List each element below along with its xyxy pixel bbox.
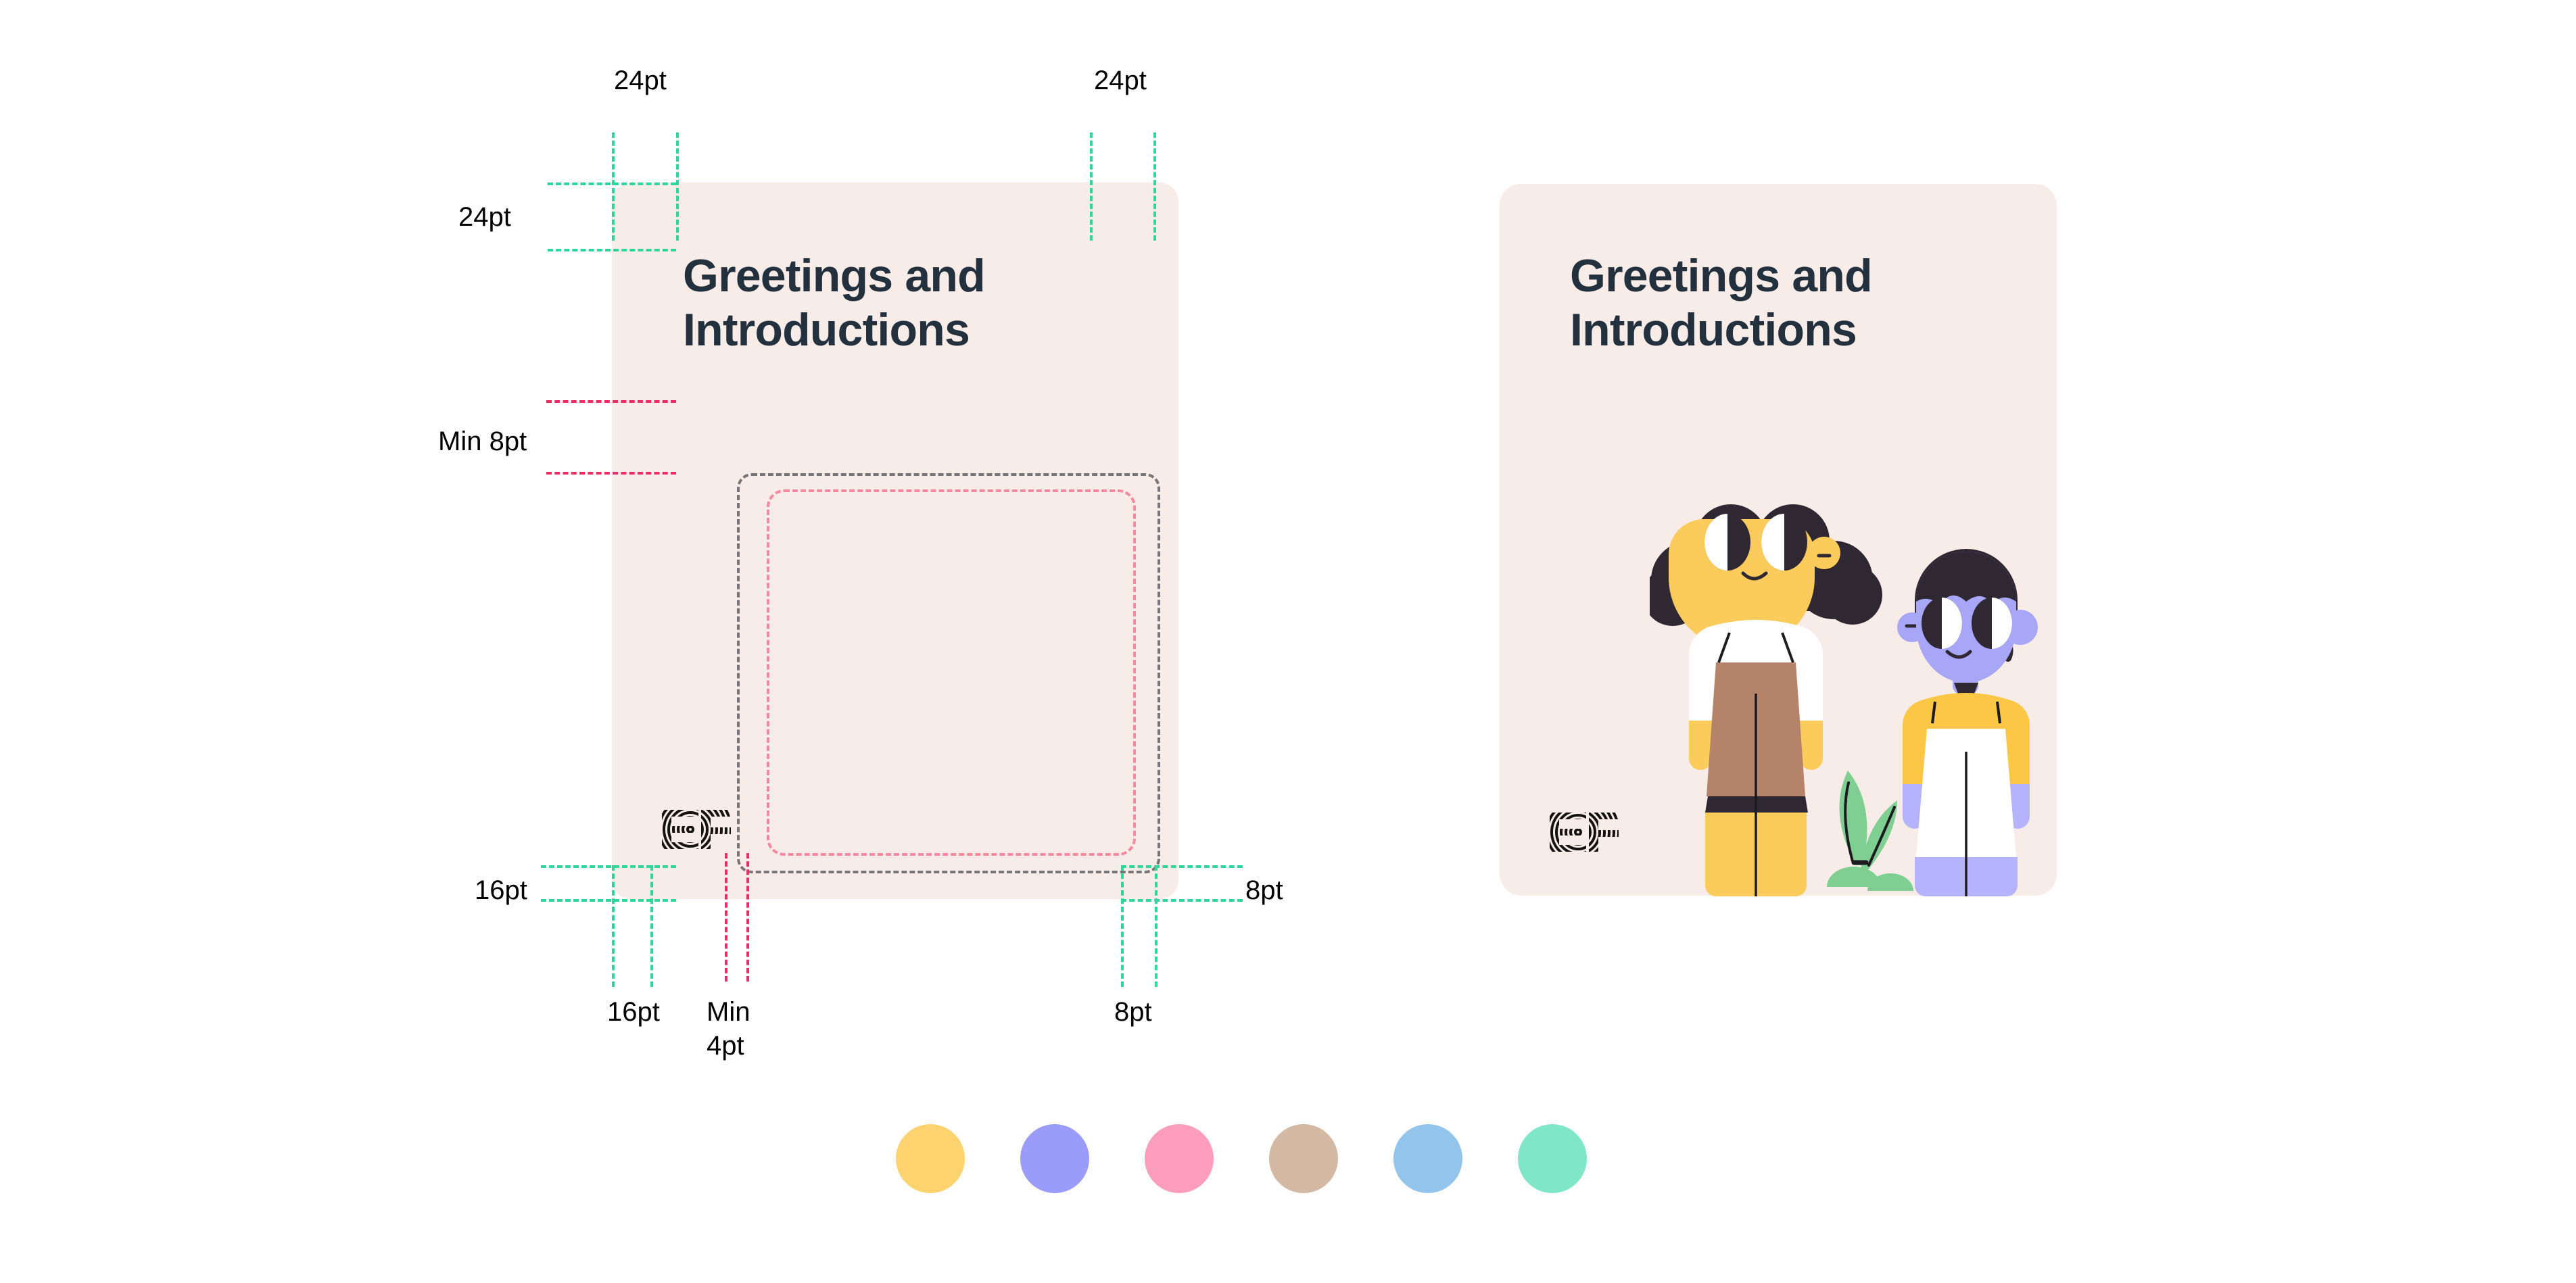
guide-line-min4pt-b [746, 853, 749, 982]
ef-logo-icon [659, 806, 735, 853]
swatch-sky-blue[interactable] [1393, 1124, 1462, 1193]
guide-line-vertical-bottomleft-b [650, 865, 653, 987]
guide-line-horizontal-topleft-a [548, 183, 676, 185]
guide-line-min4pt-a [725, 853, 728, 982]
annotation-bottom-left-vertical: 16pt [607, 995, 660, 1029]
annotation-bottom-left-horizontal: 16pt [475, 873, 527, 907]
swatch-mint[interactable] [1518, 1124, 1587, 1193]
annotation-bottom-right-horizontal: 8pt [1245, 873, 1283, 907]
guide-line-vertical-topright-a [1090, 132, 1093, 241]
guide-line-min8pt-bottom [546, 472, 676, 475]
guide-line-vertical-bottomright-b [1155, 865, 1158, 987]
swatch-tan[interactable] [1269, 1124, 1338, 1193]
guide-line-min8pt-top [546, 400, 676, 403]
annotation-min-4pt: Min 4pt [707, 995, 750, 1063]
annotation-top-left-horizontal: 24pt [614, 64, 667, 97]
spec-card-title: Greetings and Introductions [683, 249, 1129, 357]
annotation-top-left-vertical: 24pt [458, 200, 511, 234]
swatch-periwinkle[interactable] [1020, 1124, 1089, 1193]
annotation-top-right-vertical: 24pt [1094, 64, 1147, 97]
inner-content-safe-area [767, 489, 1136, 856]
illustration-two-characters-with-plant [1650, 500, 2042, 899]
swatch-yellow[interactable] [896, 1124, 965, 1193]
ef-logo-icon [1547, 808, 1623, 856]
guide-line-vertical-bottomright-a [1121, 865, 1124, 987]
design-spec-canvas: Greetings and Introductions [0, 0, 2576, 1283]
reference-card-title: Greetings and Introductions [1570, 249, 2016, 357]
guide-line-vertical-bottomleft-a [612, 865, 615, 987]
annotation-min-8pt: Min 8pt [438, 425, 527, 458]
guide-line-horizontal-bottomleft-b [541, 899, 676, 902]
guide-line-horizontal-topleft-b [548, 249, 676, 251]
guide-line-horizontal-bottomleft-a [541, 865, 676, 868]
guide-line-vertical-topright-b [1153, 132, 1156, 241]
guide-line-vertical-topleft-a [612, 132, 615, 241]
annotation-bottom-right-vertical: 8pt [1114, 995, 1152, 1029]
guide-line-horizontal-bottomright-b [1121, 899, 1243, 902]
guide-line-vertical-topleft-b [676, 132, 679, 241]
swatch-pink[interactable] [1145, 1124, 1214, 1193]
guide-line-horizontal-bottomright-a [1121, 865, 1243, 868]
